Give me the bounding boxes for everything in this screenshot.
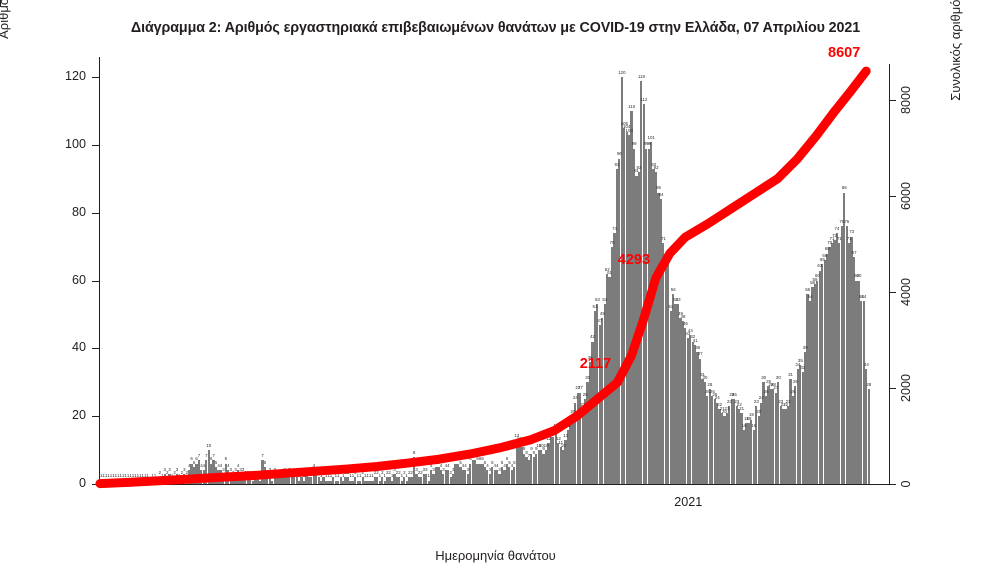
y-axis-left-tick-label: 20: [40, 408, 86, 422]
y-axis-right-tick-label: 0: [899, 480, 913, 487]
y-axis-left-tick: [92, 416, 99, 417]
y-axis-left-tick-label: 80: [40, 205, 86, 219]
y-axis-left-tick-label: 40: [40, 340, 86, 354]
y-axis-left-title: Αριθμός νέων θανάτων: [0, 0, 11, 122]
cumulative-line: [100, 57, 870, 484]
y-axis-right-tick: [889, 388, 896, 389]
cumulative-line-path: [100, 71, 866, 483]
y-axis-right-line: [889, 64, 890, 484]
chart-root: Διάγραμμα 2: Αριθμός εργαστηριακά επιβεβ…: [0, 0, 991, 583]
y-axis-left-tick: [92, 348, 99, 349]
cumulative-annotation: 2117: [580, 356, 611, 372]
y-axis-left-tick-label: 60: [40, 273, 86, 287]
y-axis-left-tick-label: 0: [40, 476, 86, 490]
y-axis-left-tick: [92, 281, 99, 282]
y-axis-left-tick-label: 100: [40, 137, 86, 151]
x-axis-title: Ημερομηνία θανάτου: [0, 548, 991, 563]
y-axis-right-tick-label: 6000: [899, 182, 913, 210]
cumulative-annotation: 8607: [828, 45, 860, 61]
chart-title: Διάγραμμα 2: Αριθμός εργαστηριακά επιβεβ…: [0, 20, 991, 36]
plot-area: 1111111111111111111111213231231232465674…: [100, 57, 870, 484]
y-axis-left-tick: [92, 77, 99, 78]
y-axis-left-tick: [92, 213, 99, 214]
x-axis-ticks: 2021: [0, 0, 991, 7]
x-axis-line: [100, 484, 890, 485]
y-axis-right-title: Συνολικός αριθμός θανάτων: [948, 0, 963, 150]
y-axis-right-tick: [889, 484, 896, 485]
y-axis-left-tick-label: 120: [40, 69, 86, 83]
y-axis-left-tick: [92, 145, 99, 146]
y-axis-right-tick-label: 2000: [899, 374, 913, 402]
y-axis-right-tick-label: 8000: [899, 86, 913, 114]
y-axis-right-tick: [889, 196, 896, 197]
y-axis-right-tick: [889, 292, 896, 293]
x-axis-tick-label: 2021: [674, 495, 702, 509]
y-axis-right-tick: [889, 100, 896, 101]
y-axis-right-tick-label: 4000: [899, 278, 913, 306]
cumulative-annotation: 4293: [618, 252, 650, 268]
